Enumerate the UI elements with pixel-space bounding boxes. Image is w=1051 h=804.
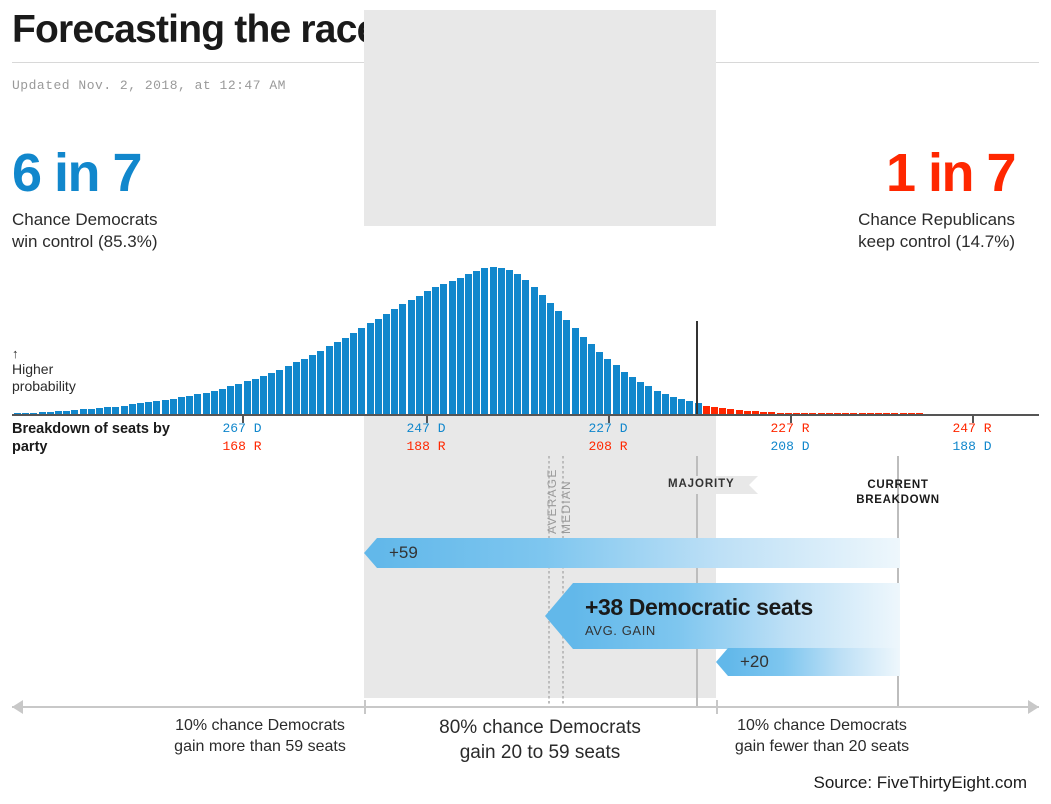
range-tick-lower — [364, 700, 366, 714]
histogram-bar — [334, 342, 341, 415]
histogram-bar — [383, 314, 390, 415]
histogram-bar — [498, 268, 505, 415]
x-axis-tick-label: 247 R188 D — [952, 420, 991, 455]
histogram-bar — [531, 287, 538, 415]
histogram-bar — [416, 296, 423, 415]
seat-gain-arrow: +38 Democratic seatsAVG. GAIN — [545, 583, 900, 649]
histogram-bar — [367, 323, 374, 415]
range-description: 10% chance Democrats gain fewer than 20 … — [735, 716, 909, 758]
histogram-bar — [186, 396, 193, 415]
tick-label-line: 247 D — [406, 420, 445, 438]
histogram-bar — [301, 359, 308, 415]
x-axis-tick-label: 247 D188 R — [406, 420, 445, 455]
histogram-bar — [194, 394, 201, 415]
x-axis-tick-label: 227 R208 D — [770, 420, 809, 455]
histogram-bar — [219, 389, 226, 415]
tick-label-line: 188 D — [952, 438, 991, 456]
current-breakdown-marker-label: CURRENT BREAKDOWN — [856, 478, 940, 507]
histogram-bar — [285, 366, 292, 415]
histogram-bar — [326, 346, 333, 415]
tick-label-line: 208 R — [588, 438, 627, 456]
average-marker-label: AVERAGE — [545, 468, 559, 534]
histogram-bar — [252, 379, 259, 415]
histogram-bar — [153, 401, 160, 415]
histogram-bar — [572, 328, 579, 415]
tick-label-line: 227 R — [770, 420, 809, 438]
tick-label-line: 208 D — [770, 438, 809, 456]
histogram-bar — [654, 391, 661, 415]
range-axis-left-arrow-icon — [12, 700, 23, 714]
arrow-tip-icon — [545, 583, 573, 649]
histogram-bar — [514, 274, 521, 415]
tick-label-line: 247 R — [952, 420, 991, 438]
histogram-bar — [596, 352, 603, 415]
histogram-bar — [203, 393, 210, 415]
histogram-bar — [424, 291, 431, 415]
x-axis-line — [12, 414, 1039, 416]
histogram-bar — [613, 365, 620, 415]
majority-marker-label: MAJORITY — [662, 476, 749, 494]
range-axis-line — [12, 706, 1039, 708]
up-arrow-icon: ↑ — [12, 347, 76, 361]
arrow-label-main: +38 Democratic seats — [585, 594, 813, 621]
x-axis-tick-label: 267 D168 R — [222, 420, 261, 455]
histogram-plot — [0, 190, 1051, 416]
seat-gain-arrow: +59 — [364, 538, 900, 568]
histogram-bar — [506, 270, 513, 415]
arrow-body: +59 — [377, 538, 900, 568]
arrow-label: +38 Democratic seatsAVG. GAIN — [585, 594, 813, 638]
histogram-bar — [662, 394, 669, 415]
histogram-bar — [342, 338, 349, 415]
arrow-label: +20 — [740, 652, 769, 672]
histogram-bar — [580, 337, 587, 415]
histogram-bar — [178, 397, 185, 415]
histogram-bar — [440, 284, 447, 415]
histogram-bar — [449, 281, 456, 415]
histogram-bar — [621, 372, 628, 415]
breakdown-axis-label: Breakdown of seats by party — [12, 420, 170, 456]
histogram-bar — [481, 268, 488, 415]
histogram-bar — [276, 370, 283, 415]
histogram-bar — [555, 311, 562, 415]
updated-timestamp: Updated Nov. 2, 2018, at 12:47 AM — [12, 78, 286, 93]
histogram-bar — [293, 362, 300, 415]
tick-label-line: 267 D — [222, 420, 261, 438]
majority-divider-line — [696, 321, 698, 416]
histogram-bar — [227, 386, 234, 415]
histogram-bar — [678, 399, 685, 415]
histogram-bar — [317, 351, 324, 415]
histogram-bar — [465, 274, 472, 415]
histogram-bar — [244, 381, 251, 415]
source-attribution: Source: FiveThirtyEight.com — [813, 773, 1027, 793]
arrow-tip-icon — [364, 538, 377, 568]
histogram-bar — [162, 400, 169, 415]
histogram-bar — [670, 397, 677, 415]
histogram-bar — [588, 344, 595, 415]
arrow-label-main: +59 — [389, 543, 418, 563]
higher-probability-text: Higher probability — [12, 361, 76, 394]
range-description: 80% chance Democrats gain 20 to 59 seats — [439, 716, 641, 765]
histogram-bar — [170, 399, 177, 415]
chart-page: Forecasting the race for the House Updat… — [0, 0, 1051, 804]
tick-label-line: 188 R — [406, 438, 445, 456]
histogram-bar — [375, 319, 382, 415]
arrow-label: +59 — [389, 543, 418, 563]
histogram-bar — [408, 300, 415, 415]
range-axis-right-arrow-icon — [1028, 700, 1039, 714]
histogram-bar — [309, 355, 316, 415]
histogram-bar — [211, 391, 218, 415]
arrow-body: +20 — [728, 648, 900, 676]
seat-gain-arrow: +20 — [716, 648, 900, 676]
arrow-label-main: +20 — [740, 652, 769, 672]
tick-label-line: 168 R — [222, 438, 261, 456]
histogram-bar — [432, 287, 439, 415]
histogram-bar — [686, 401, 693, 415]
tick-label-line: 227 D — [588, 420, 627, 438]
higher-probability-label: ↑Higher probability — [12, 330, 76, 396]
histogram-bar — [539, 295, 546, 416]
histogram-bar — [547, 303, 554, 415]
histogram-bar — [391, 309, 398, 415]
arrow-label-sub: AVG. GAIN — [585, 623, 813, 638]
histogram-bar — [358, 328, 365, 415]
histogram-bar — [490, 267, 497, 415]
histogram-bar — [629, 377, 636, 415]
arrow-body: +38 Democratic seatsAVG. GAIN — [573, 583, 900, 649]
histogram-bar — [268, 373, 275, 415]
x-axis-tick-label: 227 D208 R — [588, 420, 627, 455]
histogram-bars — [0, 200, 1051, 415]
range-tick-upper — [716, 700, 718, 714]
histogram-bar — [645, 386, 652, 415]
range-description: 10% chance Democrats gain more than 59 s… — [174, 716, 346, 758]
histogram-bar — [522, 280, 529, 415]
histogram-bar — [350, 333, 357, 415]
histogram-bar — [563, 320, 570, 415]
histogram-bar — [235, 384, 242, 415]
histogram-bar — [399, 304, 406, 415]
histogram-bar — [260, 376, 267, 415]
arrow-tip-icon — [716, 648, 728, 676]
median-marker-label: MEDIAN — [559, 480, 573, 534]
histogram-bar — [604, 359, 611, 415]
histogram-bar — [473, 271, 480, 415]
histogram-bar — [637, 382, 644, 415]
histogram-bar — [457, 278, 464, 415]
